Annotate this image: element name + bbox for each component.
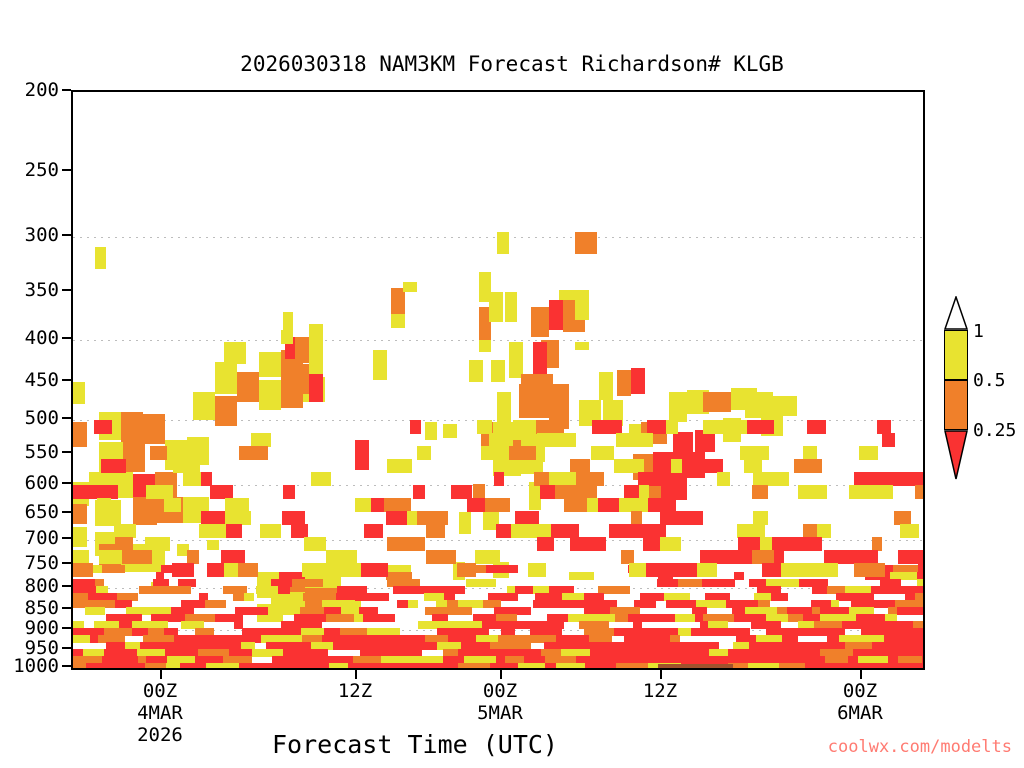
heatmap-cell — [638, 472, 663, 486]
heatmap-cell — [215, 362, 237, 394]
heatmap-cell — [599, 372, 613, 400]
heatmap-cell — [614, 459, 644, 473]
x-tick-mark-2 — [500, 670, 502, 679]
heatmap-cell — [876, 472, 897, 486]
heatmap-cell — [295, 337, 309, 363]
heatmap-cell — [408, 600, 418, 608]
heatmap-cell — [897, 607, 925, 615]
heatmap-cell — [700, 550, 714, 564]
y-tick-label-200: 200 — [0, 79, 59, 101]
heatmap-cell — [486, 565, 518, 573]
heatmap-cell — [740, 446, 756, 460]
y-tick-mark-850 — [62, 607, 71, 609]
colorbar: 1 0.5 0.25 — [941, 296, 971, 480]
heatmap-cell — [915, 550, 925, 564]
y-tick-label-750: 750 — [0, 552, 59, 574]
heatmap-cell — [669, 392, 687, 422]
heatmap-cell — [727, 420, 747, 434]
heatmap-cell — [451, 485, 461, 499]
y-tick-mark-350 — [62, 289, 71, 291]
heatmap-cell — [303, 593, 315, 601]
heatmap-cell — [94, 420, 112, 434]
heatmap-cell — [680, 511, 703, 525]
heatmap-cell — [725, 550, 752, 564]
heatmap-cell — [373, 350, 387, 380]
heatmap-cell — [748, 663, 779, 670]
heatmap-cell — [549, 472, 576, 486]
heatmap-cell — [551, 420, 564, 434]
heatmap-cell — [397, 600, 408, 608]
heatmap-cell — [101, 459, 126, 473]
heatmap-cell — [97, 498, 111, 512]
heatmap-cell — [73, 382, 85, 404]
heatmap-cell — [570, 537, 585, 551]
heatmap-cell — [661, 478, 687, 500]
heatmap-cell — [259, 380, 281, 410]
heatmap-cell — [406, 537, 425, 551]
heatmap-cell — [631, 511, 642, 525]
heatmap-cell — [282, 511, 305, 525]
y-tick-mark-950 — [62, 647, 71, 649]
heatmap-cell — [592, 420, 622, 434]
heatmap-cell — [244, 593, 254, 601]
heatmap-cell — [256, 586, 278, 594]
heatmap-cell — [262, 663, 293, 670]
heatmap-cell — [508, 663, 518, 670]
heatmap-cell — [139, 586, 158, 594]
heatmap-cell — [387, 459, 412, 473]
heatmap-cell — [575, 342, 589, 350]
heatmap-cell — [549, 300, 563, 330]
heatmap-cell — [616, 433, 634, 447]
heatmap-cell — [587, 498, 598, 512]
heatmap-cell — [648, 498, 676, 512]
heatmap-cell — [239, 663, 254, 670]
heatmap-cell — [859, 446, 878, 460]
x-axis-title: Forecast Time (UTC) — [0, 730, 830, 759]
heatmap-cell — [387, 537, 406, 551]
heatmap-cell — [496, 524, 511, 538]
heatmap-cell — [627, 524, 648, 538]
heatmap-cell — [803, 524, 817, 538]
y-tick-mark-200 — [62, 89, 71, 91]
heatmap-cell — [326, 614, 354, 622]
heatmap-cell — [73, 635, 90, 643]
x-tick-label-2: 00Z5MAR — [430, 680, 570, 724]
heatmap-cell — [354, 614, 363, 622]
y-tick-label-400: 400 — [0, 327, 59, 349]
heatmap-cell — [491, 360, 505, 382]
heatmap-cell — [537, 537, 554, 551]
colorbar-label-1: 1 — [973, 321, 984, 342]
heatmap-cell — [798, 537, 822, 551]
y-tick-mark-700 — [62, 537, 71, 539]
heatmap-cell — [634, 433, 653, 447]
heatmap-cell — [616, 663, 648, 670]
heatmap-cell — [545, 663, 556, 670]
y-tick-mark-800 — [62, 585, 71, 587]
heatmap-cell — [738, 537, 749, 551]
x-tick-label-1: 12Z — [285, 680, 425, 702]
heatmap-cell — [537, 433, 548, 447]
y-tick-mark-300 — [62, 234, 71, 236]
heatmap-cell — [73, 550, 89, 564]
x-tick-label-3: 12Z — [590, 680, 730, 702]
heatmap-cell — [864, 663, 887, 670]
heatmap-cell — [900, 524, 919, 538]
heatmap-cell — [109, 663, 132, 670]
heatmap-cell — [207, 540, 219, 550]
heatmap-cell — [714, 550, 725, 564]
heatmap-cell — [443, 424, 457, 438]
heatmap-cell — [73, 527, 87, 547]
heatmap-cell — [648, 524, 666, 538]
gridline-1000 — [73, 668, 923, 669]
heatmap-cell — [894, 511, 911, 525]
heatmap-cell — [556, 600, 585, 608]
heatmap-cell — [575, 232, 597, 254]
heatmap-cell — [898, 550, 915, 564]
x-tick-mark-0 — [160, 670, 162, 679]
heatmap-cell — [410, 420, 421, 434]
y-tick-mark-400 — [62, 337, 71, 339]
heatmap-cell — [505, 292, 517, 322]
heatmap-cell — [224, 563, 238, 577]
colorbar-top-arrow-icon — [944, 296, 968, 330]
heatmap-cell — [660, 537, 681, 551]
heatmap-cell — [812, 586, 827, 594]
heatmap-cell — [753, 511, 768, 525]
heatmap-cell — [803, 446, 817, 460]
heatmap-cell — [798, 485, 827, 499]
heatmap-cell — [95, 247, 106, 269]
heatmap-cell — [528, 563, 546, 577]
heatmap-cell — [329, 663, 348, 670]
x-tick-label-4: 00Z6MAR — [790, 680, 930, 724]
heatmap-cell — [681, 452, 705, 478]
heatmap-cell — [581, 485, 597, 499]
y-tick-mark-750 — [62, 562, 71, 564]
heatmap-cell — [877, 420, 891, 434]
heatmap-cell — [150, 446, 167, 460]
heatmap-cell — [511, 524, 523, 538]
y-tick-label-300: 300 — [0, 224, 59, 246]
heatmap-cell — [781, 563, 804, 577]
heatmap-cell — [364, 524, 383, 538]
heatmap-cell — [425, 422, 437, 440]
heatmap-cell — [556, 663, 585, 670]
heatmap-cell — [102, 565, 125, 573]
heatmap-cell — [598, 498, 619, 512]
heatmap-cell — [569, 572, 594, 580]
heatmap-cell — [413, 485, 425, 499]
y-tick-mark-650 — [62, 511, 71, 513]
heatmap-cell — [499, 593, 518, 601]
terrain-band — [658, 664, 733, 668]
y-tick-label-1000: 1000 — [0, 655, 59, 677]
y-tick-mark-500 — [62, 417, 71, 419]
heatmap-cell — [760, 537, 772, 551]
y-tick-mark-250 — [62, 169, 71, 171]
heatmap-cell — [207, 563, 224, 577]
heatmap-cell — [309, 374, 323, 402]
heatmap-cell — [779, 663, 805, 670]
heatmap-cell — [384, 498, 411, 512]
heatmap-cell — [585, 663, 616, 670]
heatmap-cell — [251, 433, 271, 447]
heatmap-cell — [675, 614, 695, 622]
heatmap-cell — [281, 330, 293, 344]
heatmap-cell — [304, 537, 326, 551]
heatmap-cell — [624, 485, 639, 499]
heatmap-cell — [254, 663, 262, 670]
heatmap-cell — [479, 340, 491, 352]
heatmap-cell — [73, 563, 93, 577]
heatmap-cell — [193, 392, 215, 420]
heatmap-cell — [199, 524, 226, 538]
heatmap-cell — [570, 459, 590, 473]
heatmap-cell — [115, 537, 133, 551]
heatmap-cell — [887, 663, 905, 670]
plot-area[interactable] — [71, 90, 925, 670]
heatmap-cell — [225, 511, 251, 525]
heatmap-cell — [417, 511, 448, 525]
heatmap-cell — [426, 550, 456, 564]
y-tick-label-550: 550 — [0, 441, 59, 463]
heatmap-cell — [309, 324, 323, 374]
heatmap-cell — [490, 663, 508, 670]
y-tick-mark-900 — [62, 627, 71, 629]
heatmap-cell — [145, 663, 166, 670]
heatmap-cell — [348, 663, 375, 670]
colorbar-segment-orange — [944, 380, 968, 430]
heatmap-cell — [703, 392, 731, 412]
heatmap-cell — [804, 563, 826, 577]
heatmap-cell — [145, 537, 170, 551]
heatmap-cell — [173, 459, 200, 473]
y-tick-label-700: 700 — [0, 527, 59, 549]
heatmap-cell — [172, 563, 194, 577]
y-tick-mark-1000 — [62, 665, 71, 667]
heatmap-cell — [122, 550, 152, 564]
heatmap-cell — [278, 586, 290, 594]
heatmap-cell — [497, 392, 511, 426]
heatmap-cell — [523, 524, 551, 538]
heatmap-cell — [697, 563, 717, 577]
heatmap-cell — [854, 563, 885, 577]
heatmap-cell — [752, 550, 774, 564]
heatmap-cell — [418, 663, 428, 670]
heatmap-cell — [73, 422, 87, 447]
heatmap-cell — [643, 537, 660, 551]
heatmap-cell — [639, 485, 649, 499]
heatmap-cell — [143, 414, 165, 444]
heatmap-cell — [477, 420, 492, 434]
heatmap-cell — [426, 524, 445, 538]
y-tick-mark-550 — [62, 451, 71, 453]
heatmap-cell — [548, 433, 576, 447]
heatmap-cell — [158, 586, 191, 594]
y-tick-label-600: 600 — [0, 472, 59, 494]
heatmap-cell — [756, 446, 769, 460]
heatmap-cell — [114, 524, 136, 538]
heatmap-cell — [807, 420, 826, 434]
y-tick-label-500: 500 — [0, 407, 59, 429]
heatmap-cell — [576, 472, 604, 486]
heatmap-cell — [717, 472, 730, 486]
heatmap-cell — [73, 663, 86, 670]
heatmap-cell — [849, 485, 867, 499]
heatmap-cell — [86, 663, 109, 670]
heatmap-cell — [536, 420, 551, 434]
heatmap-cell — [704, 459, 723, 473]
heatmap-cell — [457, 563, 476, 577]
heatmap-cell — [238, 563, 258, 577]
y-tick-label-650: 650 — [0, 501, 59, 523]
heatmap-cell — [224, 342, 246, 364]
heatmap-cell — [666, 420, 678, 434]
heatmap-cell — [489, 292, 503, 322]
heatmap-cell — [383, 663, 392, 670]
heatmap-cell — [753, 472, 773, 486]
heatmap-cell — [747, 420, 774, 434]
heatmap-cell — [867, 485, 893, 499]
heatmap-cell — [647, 420, 666, 434]
heatmap-cell — [533, 600, 556, 608]
heatmap-cell — [333, 642, 354, 650]
heatmap-cell — [375, 663, 383, 670]
heatmap-cell — [509, 342, 523, 378]
heatmap-cell — [164, 498, 181, 512]
heatmap-cell — [132, 663, 145, 670]
watermark: coolwx.com/modelts — [828, 737, 1012, 757]
heatmap-cell — [466, 579, 496, 587]
heatmap-cell — [475, 550, 500, 564]
heatmap-cell — [752, 485, 768, 499]
heatmap-cell — [631, 368, 645, 394]
heatmap-cell — [392, 663, 418, 670]
heatmap-cell — [673, 432, 693, 452]
heatmap-cell — [762, 563, 781, 577]
heatmap-cell — [533, 342, 547, 376]
heatmap-cell — [311, 472, 331, 486]
heatmap-cell — [201, 472, 212, 486]
heatmap-cell — [386, 511, 407, 525]
heatmap-cell — [772, 537, 798, 551]
heatmap-cell — [854, 472, 876, 486]
heatmap-cell — [887, 586, 903, 594]
heatmap-cell — [326, 550, 357, 564]
heatmap-cell — [428, 663, 458, 670]
heatmap-cell — [180, 663, 206, 670]
heatmap-cell — [89, 485, 118, 499]
heatmap-cell — [363, 614, 395, 622]
heatmap-cell — [206, 663, 239, 670]
y-tick-mark-450 — [62, 379, 71, 381]
y-tick-label-800: 800 — [0, 575, 59, 597]
heatmap-cell — [773, 472, 789, 486]
heatmap-cell — [210, 485, 233, 499]
heatmap-cell — [671, 459, 682, 473]
heatmap-cell — [393, 586, 417, 594]
heatmap-cell — [918, 563, 925, 577]
heatmap-cell — [237, 372, 259, 402]
heatmap-cell — [905, 663, 916, 670]
heatmap-cell — [146, 485, 173, 499]
heatmap-cell — [481, 446, 509, 460]
heatmap-cell — [737, 524, 765, 538]
x-tick-mark-4 — [860, 670, 862, 679]
heatmap-cell — [239, 446, 268, 460]
heatmap-cell — [609, 524, 627, 538]
heatmap-cell — [355, 440, 369, 470]
heatmap-cell — [489, 433, 509, 447]
page-title: 2026030318 NAM3KM Forecast Richardson# K… — [0, 52, 1024, 76]
colorbar-bottom-arrow-icon — [944, 430, 968, 480]
heatmap-cell — [467, 498, 485, 512]
heatmap-cell — [121, 412, 143, 442]
colorbar-segment-yellow — [944, 330, 968, 380]
heatmap-cell — [591, 446, 614, 460]
y-tick-label-350: 350 — [0, 279, 59, 301]
heatmap-cell — [361, 563, 388, 577]
heatmap-cell — [651, 614, 675, 622]
heatmap-cell — [817, 524, 831, 538]
heatmap-cell — [302, 563, 333, 577]
heatmap-cell — [629, 563, 646, 577]
heatmap-cell — [497, 232, 509, 254]
heatmap-cell — [824, 550, 851, 564]
heatmap-cell — [166, 663, 180, 670]
heatmap-cell — [575, 290, 589, 320]
heatmap-cell — [221, 550, 245, 564]
heatmap-cell — [233, 593, 244, 601]
heatmap-cell — [771, 593, 788, 601]
heatmap-cell — [897, 472, 925, 486]
heatmap-cell — [133, 497, 157, 525]
heatmap-cell — [547, 384, 569, 418]
heatmap-cell — [461, 485, 472, 499]
heatmap-cell — [309, 663, 329, 670]
heatmap-cell — [295, 364, 309, 394]
heatmap-cell — [73, 485, 89, 499]
heatmap-cell — [360, 593, 389, 601]
heatmap-cell — [469, 360, 483, 382]
heatmap-cell — [458, 663, 490, 670]
heatmap-cell — [882, 433, 895, 447]
heatmap-cell — [540, 485, 555, 499]
heatmap-cell — [826, 563, 838, 577]
y-tick-label-450: 450 — [0, 369, 59, 391]
heatmap-cell — [417, 446, 431, 460]
heatmap-cell — [459, 512, 471, 534]
y-tick-label-250: 250 — [0, 159, 59, 181]
y-tick-label-850: 850 — [0, 597, 59, 619]
heatmap-cell — [691, 628, 720, 636]
heatmap-cell — [293, 663, 309, 670]
heatmap-cell — [90, 635, 98, 643]
heatmap-cell — [201, 511, 225, 525]
heatmap-cell — [805, 663, 837, 670]
heatmap-cell — [73, 504, 87, 524]
heatmap-cell — [619, 498, 648, 512]
heatmap-cell — [703, 420, 727, 434]
heatmap-cell — [260, 524, 281, 538]
heatmap-cell — [485, 498, 497, 512]
heatmap-cell — [494, 472, 504, 486]
heatmap-cell — [555, 485, 581, 499]
heatmap-cell — [916, 663, 925, 670]
